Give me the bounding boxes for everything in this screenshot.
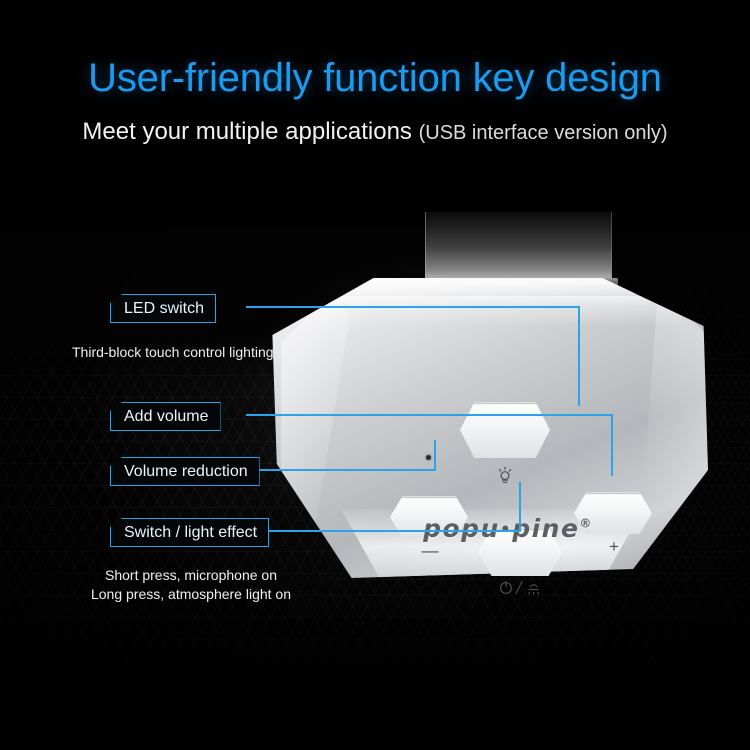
leader-line-switch-v bbox=[519, 482, 521, 532]
page-subtitle: Meet your multiple applications (USB int… bbox=[0, 120, 750, 144]
led-button[interactable] bbox=[460, 402, 550, 458]
leader-line-add-v bbox=[611, 414, 613, 476]
callout-switch-light-effect[interactable]: Switch / light effect bbox=[110, 518, 269, 547]
caption-switch: Short press, microphone on Long press, a… bbox=[78, 566, 304, 604]
background-bottom-fade bbox=[0, 600, 750, 750]
led-indicator-dot bbox=[426, 455, 431, 460]
callout-led-switch[interactable]: LED switch bbox=[110, 294, 216, 323]
power-light-icon bbox=[486, 580, 556, 597]
subtitle-note: (USB interface version only) bbox=[419, 122, 668, 144]
callout-label: Switch / light effect bbox=[124, 525, 257, 541]
product-feature-image: User-friendly function key design Meet y… bbox=[0, 0, 750, 750]
callout-add-volume[interactable]: Add volume bbox=[110, 402, 221, 431]
callout-label: LED switch bbox=[124, 301, 204, 317]
caption-switch-line1: Short press, microphone on bbox=[78, 566, 304, 585]
caption-led: Third-block touch control lighting bbox=[72, 343, 274, 362]
leader-line-led-h bbox=[246, 306, 580, 308]
subtitle-main: Meet your multiple applications bbox=[82, 118, 412, 145]
leader-line-switch-h bbox=[246, 530, 520, 532]
minus-icon: — bbox=[400, 542, 460, 559]
brand-name-part2: pine bbox=[512, 514, 579, 543]
callout-label: Add volume bbox=[124, 409, 209, 425]
headband-strap bbox=[425, 212, 612, 284]
brand-logo: popu•pine® bbox=[393, 514, 623, 543]
registered-mark: ® bbox=[579, 517, 593, 531]
callout-label: Volume reduction bbox=[124, 464, 248, 480]
leader-line-reduce-v bbox=[434, 440, 436, 470]
leader-line-add-h bbox=[246, 414, 612, 416]
leader-line-led-v bbox=[578, 306, 580, 406]
page-title: User-friendly function key design bbox=[0, 58, 750, 98]
brand-name-part1: popu bbox=[423, 514, 500, 543]
caption-switch-line2: Long press, atmosphere light on bbox=[78, 585, 304, 604]
background-top-fade bbox=[0, 0, 750, 230]
leader-line-reduce-h bbox=[246, 469, 436, 471]
callout-volume-reduction[interactable]: Volume reduction bbox=[110, 457, 260, 486]
headset-control-module: — + popu•pine® bbox=[248, 212, 718, 592]
